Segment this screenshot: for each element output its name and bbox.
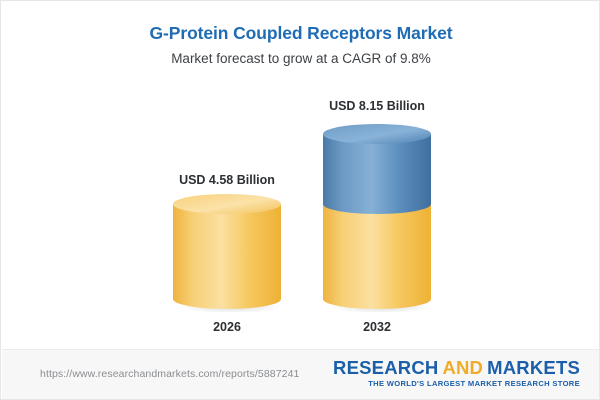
logo-word-research: RESEARCH bbox=[333, 357, 438, 378]
research-and-markets-logo[interactable]: RESEARCHANDMARKETS THE WORLD'S LARGEST M… bbox=[333, 358, 580, 389]
logo-wordmark: RESEARCHANDMARKETS bbox=[333, 358, 580, 378]
bar-cylinder-2026[interactable] bbox=[173, 194, 281, 312]
logo-word-markets: MARKETS bbox=[487, 357, 580, 378]
chart-canvas: G-Protein Coupled Receptors Market Marke… bbox=[0, 0, 600, 400]
report-url[interactable]: https://www.researchandmarkets.com/repor… bbox=[40, 368, 299, 380]
bar-value-label-2026: USD 4.58 Billion bbox=[147, 173, 307, 187]
bar-cylinder-2032[interactable] bbox=[323, 124, 431, 312]
plot-area: USD 4.58 Billion bbox=[1, 1, 600, 349]
bar-group-2032: USD 8.15 Billion bbox=[323, 1, 431, 349]
category-label-2026: 2026 bbox=[147, 320, 307, 334]
category-label-2032: 2032 bbox=[297, 320, 457, 334]
logo-tagline: THE WORLD'S LARGEST MARKET RESEARCH STOR… bbox=[333, 379, 580, 389]
logo-word-and: AND bbox=[442, 357, 483, 378]
footer-bar: https://www.researchandmarkets.com/repor… bbox=[2, 349, 600, 400]
bar-group-2026: USD 4.58 Billion bbox=[173, 1, 281, 349]
bar-value-label-2032: USD 8.15 Billion bbox=[297, 99, 457, 113]
